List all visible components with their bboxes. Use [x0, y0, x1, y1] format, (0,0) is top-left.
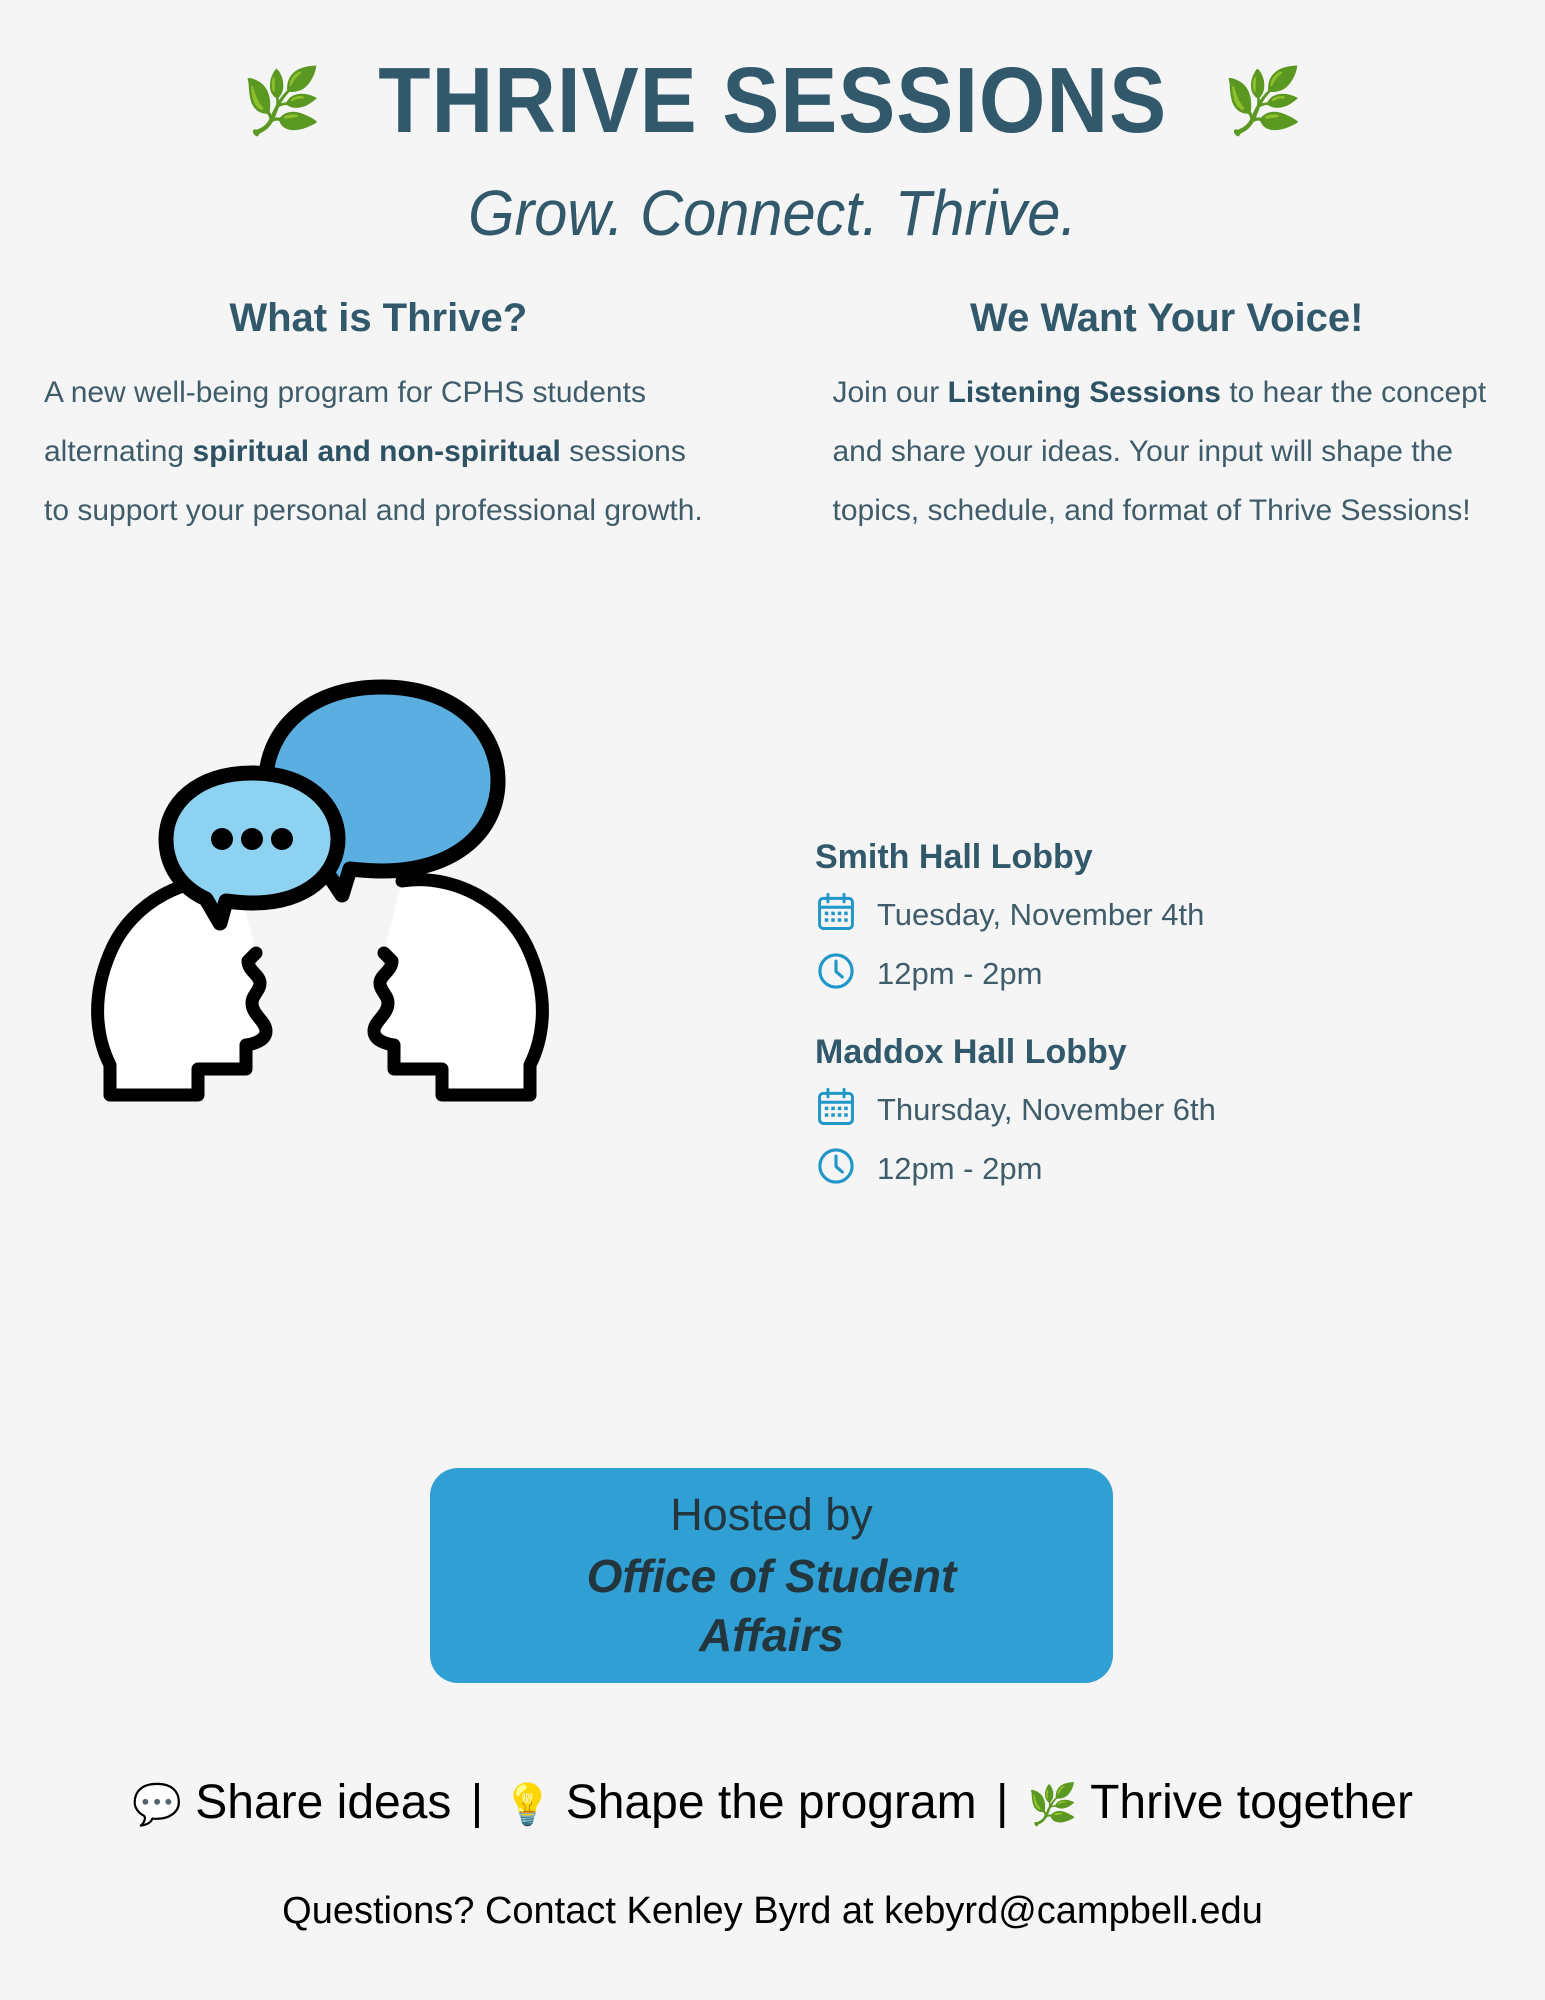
event-location: Smith Hall Lobby: [815, 838, 1455, 877]
left-column-heading: What is Thrive?: [44, 296, 713, 341]
page-title: THRIVE SESSIONS: [378, 52, 1167, 150]
right-column-heading: We Want Your Voice!: [833, 296, 1502, 341]
intro-columns: What is Thrive? A new well-being program…: [0, 296, 1545, 541]
herb-icon-left: 🌿: [242, 69, 322, 133]
hosted-by-box: Hosted by Office of Student Affairs: [430, 1468, 1113, 1683]
tagline-separator-2: |: [990, 1776, 1014, 1829]
tagline-separator-1: |: [465, 1776, 489, 1829]
column-what-is-thrive: What is Thrive? A new well-being program…: [44, 296, 773, 541]
right-body-part1: Join our: [833, 376, 948, 409]
hosting-organization: Office of Student Affairs: [552, 1547, 992, 1664]
event-time: 12pm - 2pm: [877, 956, 1042, 992]
herb-icon-right: 🌿: [1223, 69, 1303, 133]
event-date: Tuesday, November 4th: [877, 897, 1204, 933]
light-bulb-icon: 💡: [503, 1783, 553, 1827]
column-we-want-your-voice: We Want Your Voice! Join our Listening S…: [773, 296, 1502, 541]
event-time-line: 12pm - 2pm: [815, 1145, 1455, 1192]
calendar-icon: [815, 891, 857, 938]
tagline-share-ideas: Share ideas: [195, 1776, 451, 1829]
event-time-line: 12pm - 2pm: [815, 950, 1455, 997]
tagline-thrive-together: Thrive together: [1090, 1776, 1413, 1829]
footer-tagline: 💬 Share ideas | 💡 Shape the program | 🌿 …: [0, 1775, 1545, 1830]
hosted-by-label: Hosted by: [670, 1487, 873, 1543]
left-body-bold: spiritual and non-spiritual: [192, 435, 560, 468]
event-date: Thursday, November 6th: [877, 1092, 1216, 1128]
event-date-line: Thursday, November 6th: [815, 1086, 1455, 1133]
poster-canvas: 🌿 THRIVE SESSIONS 🌿 Grow. Connect. Thriv…: [0, 0, 1545, 2000]
tagline-shape-the-program: Shape the program: [566, 1776, 977, 1829]
two-heads-conversation-illustration: [70, 665, 570, 1125]
events-list: Smith Hall Lobby: [815, 838, 1455, 1228]
event-time: 12pm - 2pm: [877, 1151, 1042, 1187]
poster-header: 🌿 THRIVE SESSIONS 🌿 Grow. Connect. Thriv…: [0, 0, 1545, 250]
page-subtitle: Grow. Connect. Thrive.: [54, 176, 1491, 250]
herb-icon-footer: 🌿: [1028, 1783, 1078, 1827]
left-column-body: A new well-being program for CPHS studen…: [44, 363, 713, 541]
right-column-body: Join our Listening Sessions to hear the …: [833, 363, 1502, 541]
right-body-bold: Listening Sessions: [948, 376, 1221, 409]
event-location: Maddox Hall Lobby: [815, 1033, 1455, 1072]
event-date-line: Tuesday, November 4th: [815, 891, 1455, 938]
event-block: Maddox Hall Lobby: [815, 1033, 1455, 1192]
footer-contact: Questions? Contact Kenley Byrd at kebyrd…: [0, 1890, 1545, 1933]
event-block: Smith Hall Lobby: [815, 838, 1455, 997]
clock-icon: [815, 950, 857, 997]
calendar-icon: [815, 1086, 857, 1133]
clock-icon: [815, 1145, 857, 1192]
speech-balloon-icon: 💬: [132, 1783, 182, 1827]
title-row: 🌿 THRIVE SESSIONS 🌿: [0, 52, 1545, 150]
